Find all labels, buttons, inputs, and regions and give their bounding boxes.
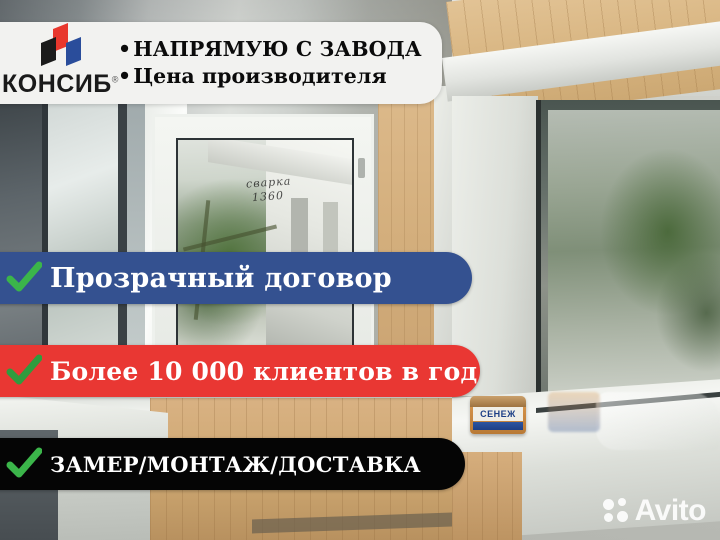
avito-wordmark: Avito — [635, 496, 706, 526]
header-line-1-text: НАПРЯМУЮ С ЗАВОДА — [133, 37, 422, 61]
avito-watermark: Avito — [603, 496, 706, 526]
registered-trademark-icon: ® — [112, 75, 119, 85]
can-lid — [470, 396, 526, 407]
feature-banner-services: ЗАМЕР/МОНТАЖ/ДОСТАВКА — [0, 438, 465, 490]
logo-mark-icon — [36, 25, 114, 65]
tree-branch — [183, 224, 277, 251]
logo-wordmark-text: КОНСИБ — [2, 70, 112, 98]
company-logo: КОНСИБ® — [2, 25, 114, 101]
product-can: СЕНЕЖ — [470, 396, 526, 434]
plastic-sheeting — [596, 392, 720, 450]
feature-banner-services-label: ЗАМЕР/МОНТАЖ/ДОСТАВКА — [50, 452, 421, 477]
feature-banner-contract-label: Прозрачный договор — [50, 263, 392, 294]
logo-wordmark: КОНСИБ® — [2, 70, 119, 99]
glass-handwriting-line-2: 1360 — [252, 189, 285, 204]
feature-banner-clients-label: Более 10 000 клиентов в год — [50, 357, 477, 386]
check-icon — [6, 353, 42, 389]
check-icon — [6, 260, 42, 296]
window-hinge — [358, 158, 365, 178]
feature-banner-contract: Прозрачный договор — [0, 252, 472, 304]
header-line-2-text: Цена производителя — [133, 64, 387, 88]
check-icon — [6, 446, 42, 482]
logo-shape-blue-icon — [66, 37, 81, 66]
header-line-1: •НАПРЯМУЮ С ЗАВОДА — [118, 36, 422, 63]
sliding-window-glass — [548, 110, 720, 400]
can-label: СЕНЕЖ — [473, 407, 523, 421]
window-glass-pane — [176, 138, 354, 358]
logo-shape-black-icon — [41, 37, 56, 66]
bullet-icon: • — [118, 64, 131, 88]
header-line-2: •Цена производителя — [118, 63, 422, 90]
avito-dots-icon — [603, 498, 629, 524]
can-reflection — [548, 392, 600, 432]
header-selling-points: •НАПРЯМУЮ С ЗАВОДА •Цена производителя — [118, 36, 422, 90]
advertisement-image: сварка 1360 СЕНЕЖ — [0, 0, 720, 540]
header-panel: КОНСИБ® •НАПРЯМУЮ С ЗАВОДА •Цена произво… — [0, 22, 442, 104]
feature-banner-clients: Более 10 000 клиентов в год — [0, 345, 480, 397]
photo-right-balcony — [452, 0, 720, 540]
can-color-band — [473, 422, 523, 430]
bullet-icon: • — [118, 37, 131, 61]
